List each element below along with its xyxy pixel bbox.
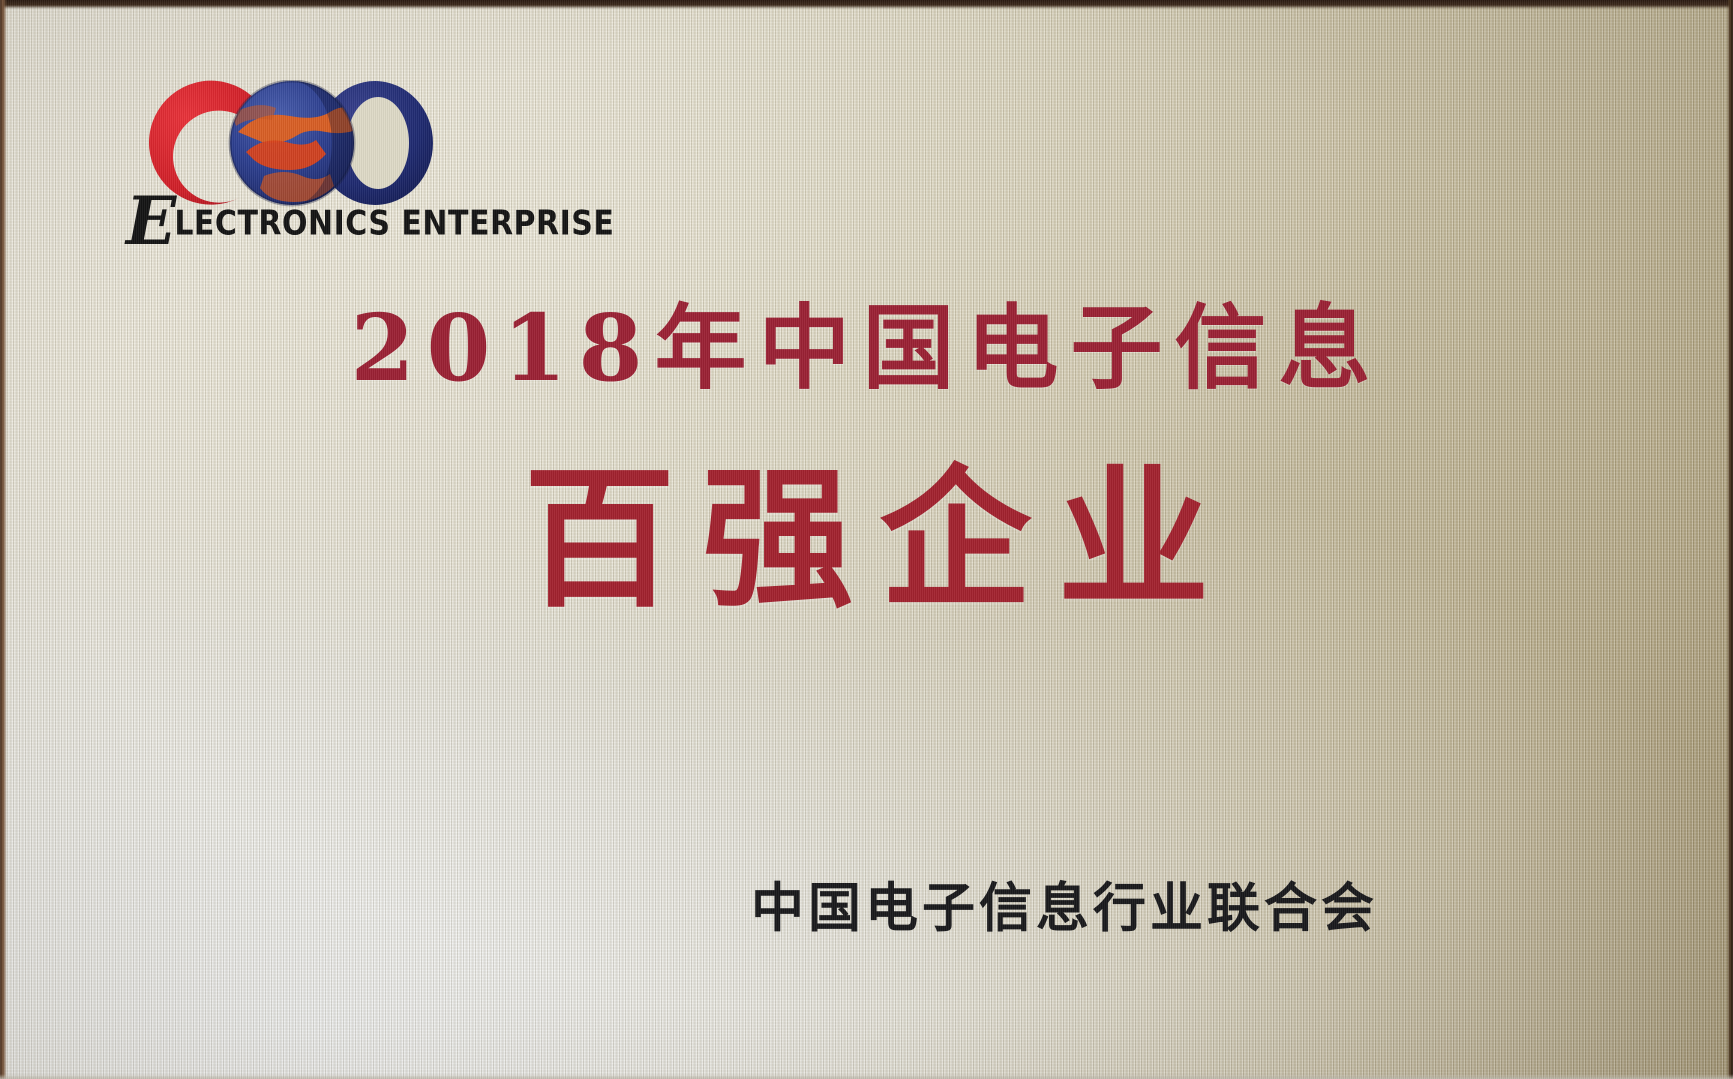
logo-wordmark-text: LECTRONICS ENTERPRISE <box>174 207 614 241</box>
logo-wordmark: E LECTRONICS ENTERPRISE <box>126 202 476 242</box>
frame-edge-top <box>0 0 1733 9</box>
award-title-line-1: 2018年中国电子信息 <box>0 300 1733 397</box>
award-title-line-2: 百强企业 <box>0 460 1733 620</box>
logo-wordmark-initial: E <box>126 198 174 246</box>
electronics-enterprise-globe-icon <box>126 80 476 215</box>
issuing-organization: 中国电子信息行业联合会 <box>751 880 1378 938</box>
organization-logo: E LECTRONICS ENTERPRISE <box>126 80 476 255</box>
award-plaque: E LECTRONICS ENTERPRISE 2018年中国电子信息 百强企业… <box>0 0 1733 1079</box>
frame-edge-bottom <box>0 1074 1733 1079</box>
